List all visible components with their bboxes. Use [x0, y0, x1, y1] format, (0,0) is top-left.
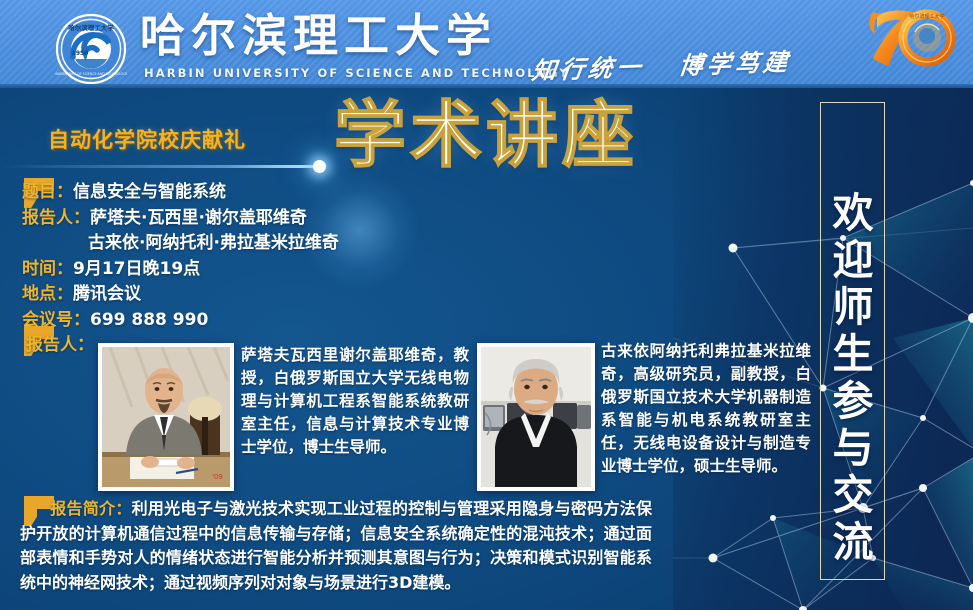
page-title: 学术讲座 — [334, 96, 638, 174]
seal-year: 1950 — [72, 50, 89, 57]
university-motto: 知行统一博学笃建 — [530, 41, 828, 86]
svg-text:哈尔滨理工大学: 哈尔滨理工大学 — [909, 13, 944, 20]
anniversary-70-logo-icon: 哈尔滨理工大学 — [855, 2, 963, 80]
speaker-photo-1: '09 — [98, 343, 234, 491]
time-label: 时间： — [22, 259, 73, 279]
university-seal-icon: 哈尔滨理工大学 1950 HARBIN UNIV. OF SCIENCE AND… — [55, 13, 127, 85]
welcome-char-4: 参 — [823, 378, 883, 425]
gold-subtitle: 自动化学院校庆献礼 — [48, 124, 246, 154]
header-bottom-rule — [0, 84, 973, 88]
motto-part-2: 博学笃建 — [677, 47, 793, 80]
university-name-en: HARBIN UNIVERSITY OF SCIENCE AND TECHNOL… — [144, 66, 570, 80]
welcome-char-5: 与 — [823, 425, 883, 472]
welcome-banner-text: 欢 迎 师 生 参 与 交 流 — [823, 190, 883, 566]
topic-label: 题目： — [22, 182, 73, 202]
speaker-bio-2: 古来依阿纳托利弗拉基米拉维奇，高级研究员，副教授，白俄罗斯国立技术大学机器制造系… — [601, 340, 811, 478]
welcome-char-0: 欢 — [823, 190, 883, 237]
info-row-place: 地点：腾讯会议 — [22, 282, 492, 308]
welcome-char-2: 师 — [823, 284, 883, 331]
svg-text:HARBIN UNIV. OF SCIENCE AND TE: HARBIN UNIV. OF SCIENCE AND TECHNOLOGY — [55, 72, 127, 76]
speaker-value-2: 古来依·阿纳托利·弗拉基米拉维奇 — [88, 233, 339, 253]
info-row-topic: 题目：信息安全与智能系统 — [22, 180, 492, 206]
welcome-char-1: 迎 — [823, 237, 883, 284]
svg-text:哈尔滨理工大学: 哈尔滨理工大学 — [68, 23, 114, 32]
poster-header: 哈尔滨理工大学 1950 HARBIN UNIV. OF SCIENCE AND… — [0, 0, 973, 88]
abstract-block: 报告简介：利用光电子与激光技术实现工业过程的控制与管理采用隐身与密码方法保护开放… — [20, 497, 652, 595]
speakers-section-label: 报告人： — [26, 330, 94, 355]
motto-part-1: 知行统一 — [530, 52, 646, 85]
meeting-id-value: 699 888 990 — [90, 310, 208, 330]
topic-value: 信息安全与智能系统 — [73, 182, 226, 202]
place-label: 地点： — [22, 284, 73, 304]
lecture-info-block: 题目：信息安全与智能系统 报告人：萨塔夫·瓦西里·谢尔盖耶维奇 古来依·阿纳托利… — [22, 180, 492, 333]
welcome-char-6: 交 — [823, 472, 883, 519]
lecture-poster: 哈尔滨理工大学 1950 HARBIN UNIV. OF SCIENCE AND… — [0, 0, 973, 610]
svg-text:'09: '09 — [212, 473, 223, 481]
university-name-cn: 哈尔滨理工大学 — [140, 8, 497, 64]
speaker-photo-2 — [477, 343, 595, 491]
info-row-speaker: 报告人：萨塔夫·瓦西里·谢尔盖耶维奇 — [22, 206, 492, 232]
title-light-streak — [0, 165, 318, 168]
welcome-char-7: 流 — [823, 519, 883, 566]
speaker-value-1: 萨塔夫·瓦西里·谢尔盖耶维奇 — [90, 208, 307, 228]
speaker-label: 报告人： — [22, 208, 90, 228]
info-row-time: 时间：9月17日晚19点 — [22, 257, 492, 283]
title-light-dot-icon — [313, 160, 326, 173]
welcome-char-3: 生 — [823, 331, 883, 378]
speaker-bio-1: 萨塔夫瓦西里谢尔盖耶维奇，教授，白俄罗斯国立大学无线电物理与计算机工程系智能系统… — [241, 344, 469, 459]
time-value: 9月17日晚19点 — [73, 259, 200, 279]
place-value: 腾讯会议 — [73, 284, 141, 304]
info-row-speaker-2: 古来依·阿纳托利·弗拉基米拉维奇 — [22, 231, 492, 257]
abstract-label: 报告简介： — [50, 499, 132, 518]
